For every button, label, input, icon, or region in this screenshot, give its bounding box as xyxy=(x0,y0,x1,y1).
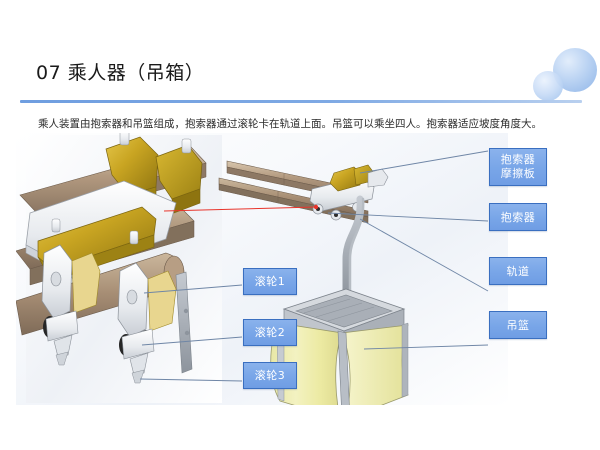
header-decoration xyxy=(520,40,600,108)
slide-title: 07 乘人器（吊箱） xyxy=(36,58,204,85)
label-roller-3[interactable]: 滚轮3 xyxy=(243,362,297,389)
small-blue-circle-icon xyxy=(533,71,563,101)
label-grip-friction-plate-line1: 抱索器 xyxy=(501,153,536,167)
label-roller-2-text: 滚轮2 xyxy=(255,326,286,339)
label-grip-friction-plate[interactable]: 抱索器 摩擦板 xyxy=(489,148,547,186)
label-grip-friction-plate-line2: 摩擦板 xyxy=(501,167,536,181)
label-grip[interactable]: 抱索器 xyxy=(489,203,547,231)
label-roller-3-text: 滚轮3 xyxy=(255,369,286,382)
label-cabin[interactable]: 吊篮 xyxy=(489,311,547,339)
label-roller-1-text: 滚轮1 xyxy=(255,275,286,288)
title-divider-rule xyxy=(20,100,582,103)
slide-subtitle: 乘人装置由抱索器和吊篮组成，抱索器通过滚轮卡在轨道上面。吊篮可以乘坐四人。抱索器… xyxy=(38,117,583,131)
label-cabin-text: 吊篮 xyxy=(507,319,530,332)
label-track[interactable]: 轨道 xyxy=(489,257,547,285)
presentation-slide: 07 乘人器（吊箱） 乘人装置由抱索器和吊篮组成，抱索器通过滚轮卡在轨道上面。吊… xyxy=(0,0,600,450)
label-track-text: 轨道 xyxy=(507,265,530,278)
label-roller-2[interactable]: 滚轮2 xyxy=(243,319,297,346)
label-grip-text: 抱索器 xyxy=(501,211,536,224)
label-roller-1[interactable]: 滚轮1 xyxy=(243,268,297,295)
large-blue-circle-icon xyxy=(553,48,597,92)
